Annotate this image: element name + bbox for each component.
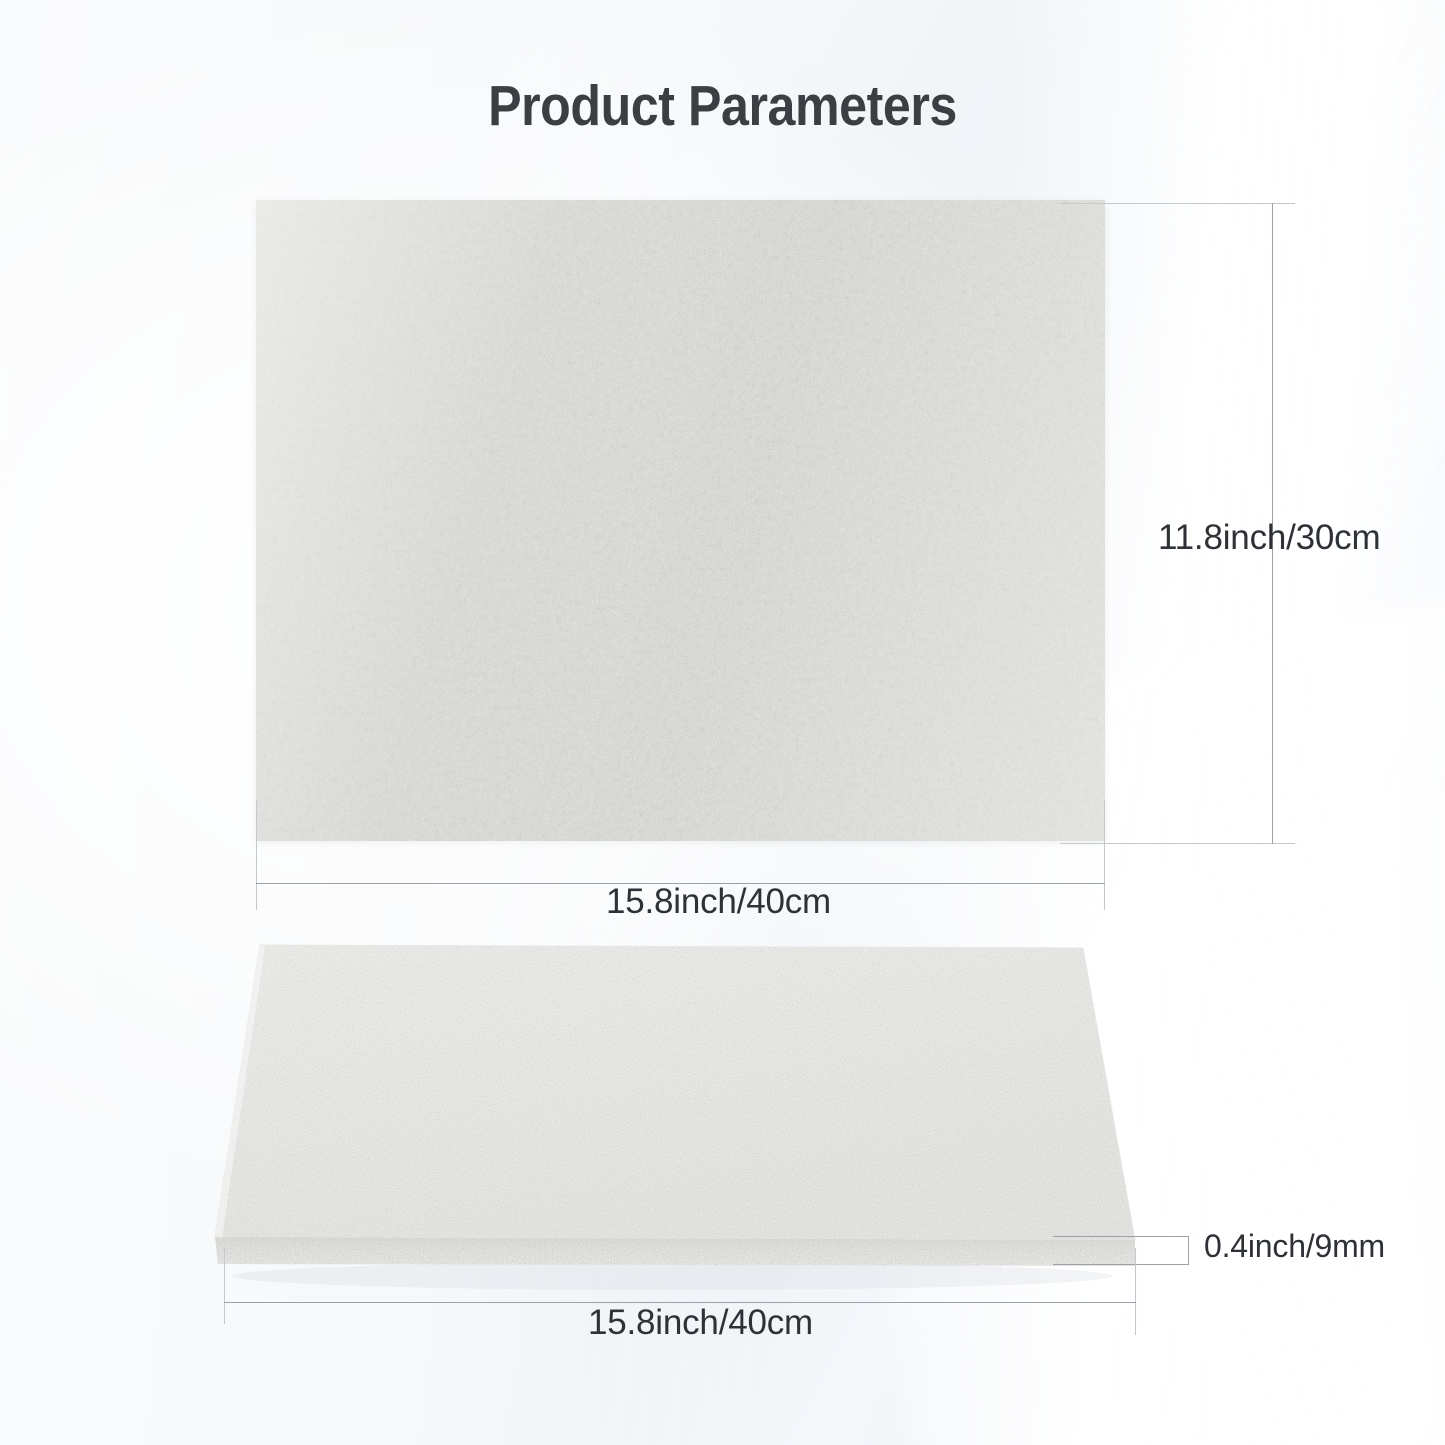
- product-parameters-image: Product Parameters: [0, 0, 1445, 1445]
- extension-line-height-bottom: [1060, 843, 1295, 844]
- dimension-label-thickness: 0.4inch/9mm: [1204, 1228, 1385, 1265]
- dimension-label-width-perspective-text: 15.8inch/40cm: [588, 1303, 813, 1343]
- felt-texture: [256, 200, 1105, 841]
- dimension-line-thickness-top: [1053, 1236, 1189, 1237]
- product-panel-front-view: [256, 200, 1105, 841]
- dimension-label-height: 11.8inch/30cm: [1158, 518, 1380, 558]
- page-title: Product Parameters: [87, 75, 1359, 138]
- dimension-line-thickness-connector: [1188, 1236, 1189, 1265]
- dimension-label-width-front-text: 15.8inch/40cm: [606, 882, 831, 922]
- dimension-line-thickness-bottom: [1053, 1264, 1189, 1265]
- dimension-label-width-perspective: 15.8inch/40cm: [0, 1303, 1445, 1343]
- extension-line-height-top: [1060, 203, 1295, 204]
- dimension-label-width-front: 15.8inch/40cm: [0, 882, 1445, 922]
